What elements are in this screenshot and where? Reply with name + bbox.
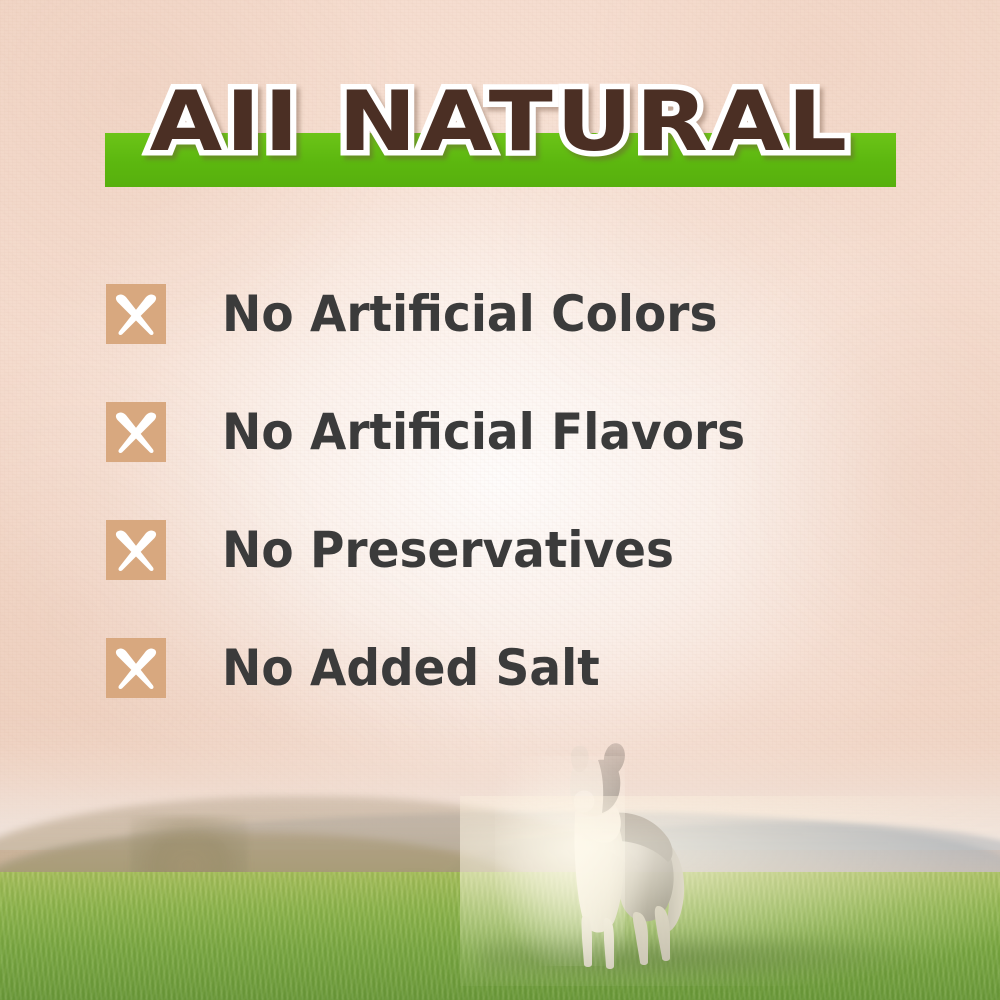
claims-list: No Artificial Colors No Artificial Flavo…: [106, 255, 906, 727]
photo-fade-layer: [0, 700, 1000, 1000]
claim-label: No Added Salt: [222, 643, 600, 693]
claim-label: No Artificial Colors: [222, 289, 717, 339]
page-title: AII NATURAL: [0, 78, 1000, 164]
x-mark-icon: [106, 402, 166, 462]
all-natural-product-claims-poster: AII NATURAL No Artificial Colors No Arti…: [0, 0, 1000, 1000]
border-collie-dog: [532, 740, 702, 970]
x-mark-icon: [106, 284, 166, 344]
x-mark-icon: [106, 520, 166, 580]
claim-label: No Preservatives: [222, 525, 674, 575]
x-mark-icon: [106, 638, 166, 698]
list-item: No Preservatives: [106, 491, 906, 609]
landscape-photo: [0, 700, 1000, 1000]
claim-label: No Artificial Flavors: [222, 407, 745, 457]
list-item: No Artificial Flavors: [106, 373, 906, 491]
list-item: No Added Salt: [106, 609, 906, 727]
list-item: No Artificial Colors: [106, 255, 906, 373]
